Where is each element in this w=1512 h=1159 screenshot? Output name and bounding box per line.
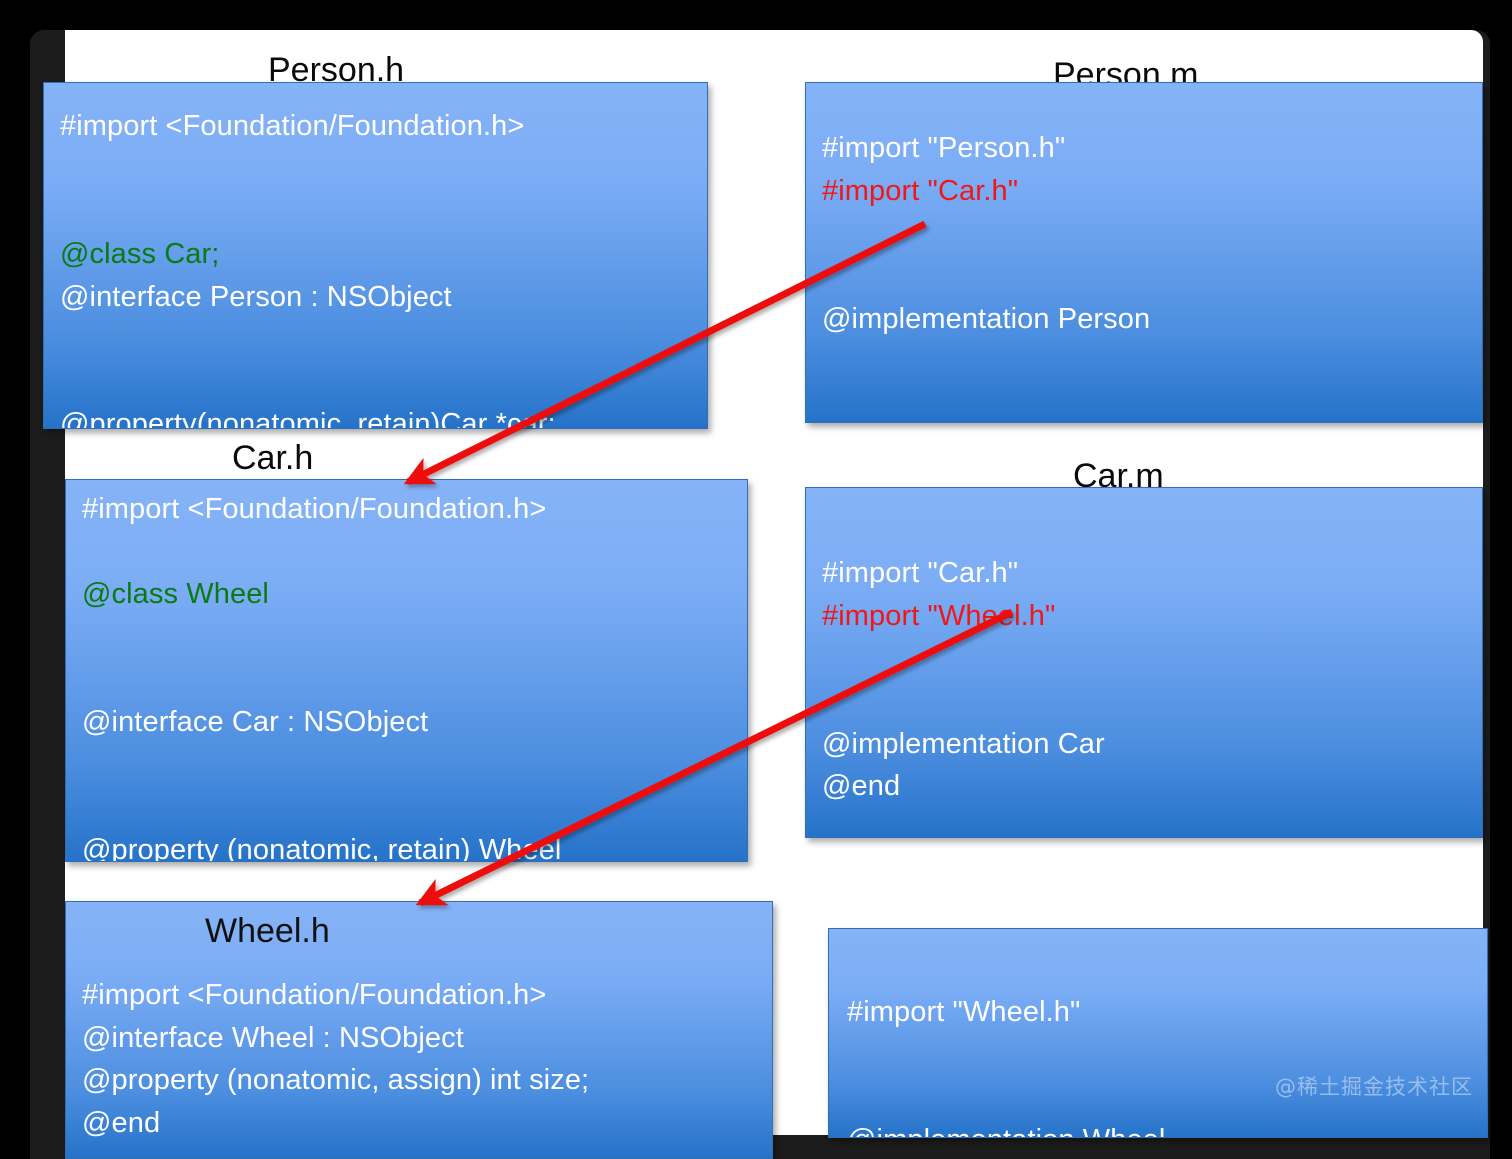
code-line: @end [82, 1102, 772, 1145]
code-line [822, 212, 1482, 255]
code-line [60, 361, 707, 404]
code-line [822, 383, 1482, 423]
code-line [82, 531, 747, 574]
caption-wheel-h: Wheel.h [205, 914, 330, 948]
code-line [82, 744, 747, 787]
watermark-text: @稀土掘金技术社区 [1275, 1072, 1473, 1103]
code-box-wheel-h[interactable]: #import <Foundation/Foundation.h>@interf… [65, 901, 773, 1159]
code-line: @implementation Car [822, 723, 1482, 766]
code-line: #import <Foundation/Foundation.h> [82, 974, 772, 1017]
code-line: #import <Foundation/Foundation.h> [82, 488, 747, 531]
code-line: #import "Car.h" [822, 170, 1482, 213]
code-box-wheel-m[interactable]: #import "Wheel.h" @implementation Wheel … [828, 928, 1488, 1138]
code-line [822, 637, 1482, 680]
code-line: @property(nonatomic, retain)Car *car; [60, 403, 707, 429]
code-line: @property (nonatomic, retain) Wheel [82, 829, 747, 862]
code-line [60, 318, 707, 361]
code-line [822, 255, 1482, 298]
code-line: #import "Person.h" [822, 127, 1482, 170]
code-line: @interface Car : NSObject [82, 701, 747, 744]
code-line [847, 1034, 1487, 1077]
code-line [822, 340, 1482, 383]
slide-canvas: Person.h Person.m Car.h Car.m #import <F… [0, 0, 1512, 1159]
code-box-person-h[interactable]: #import <Foundation/Foundation.h> @class… [43, 82, 708, 429]
code-line [60, 190, 707, 233]
code-line: @class Wheel [82, 573, 747, 616]
code-line: @implementation Wheel [847, 1119, 1487, 1138]
code-line: @property (nonatomic, assign) int size; [82, 1059, 772, 1102]
code-line: #import "Car.h" [822, 552, 1482, 595]
code-line [60, 148, 707, 191]
code-line [82, 786, 747, 829]
code-line: #import "Wheel.h" [822, 595, 1482, 638]
code-line: @class Car; [60, 233, 707, 276]
code-line [822, 680, 1482, 723]
code-line: @interface Person : NSObject [60, 276, 707, 319]
code-line: #import <Foundation/Foundation.h> [60, 105, 707, 148]
code-line: #import "Wheel.h" [847, 991, 1487, 1034]
code-line: @interface Wheel : NSObject [82, 1017, 772, 1060]
code-line: @implementation Person [822, 298, 1482, 341]
code-box-car-h[interactable]: #import <Foundation/Foundation.h> @class… [65, 479, 748, 862]
caption-car-h: Car.h [232, 441, 313, 475]
code-line: @end [822, 765, 1482, 808]
code-box-person-m[interactable]: #import "Person.h"#import "Car.h" @imple… [805, 82, 1483, 423]
code-line [82, 659, 747, 702]
code-box-car-m[interactable]: #import "Car.h"#import "Wheel.h" @implem… [805, 487, 1483, 838]
code-line [82, 616, 747, 659]
